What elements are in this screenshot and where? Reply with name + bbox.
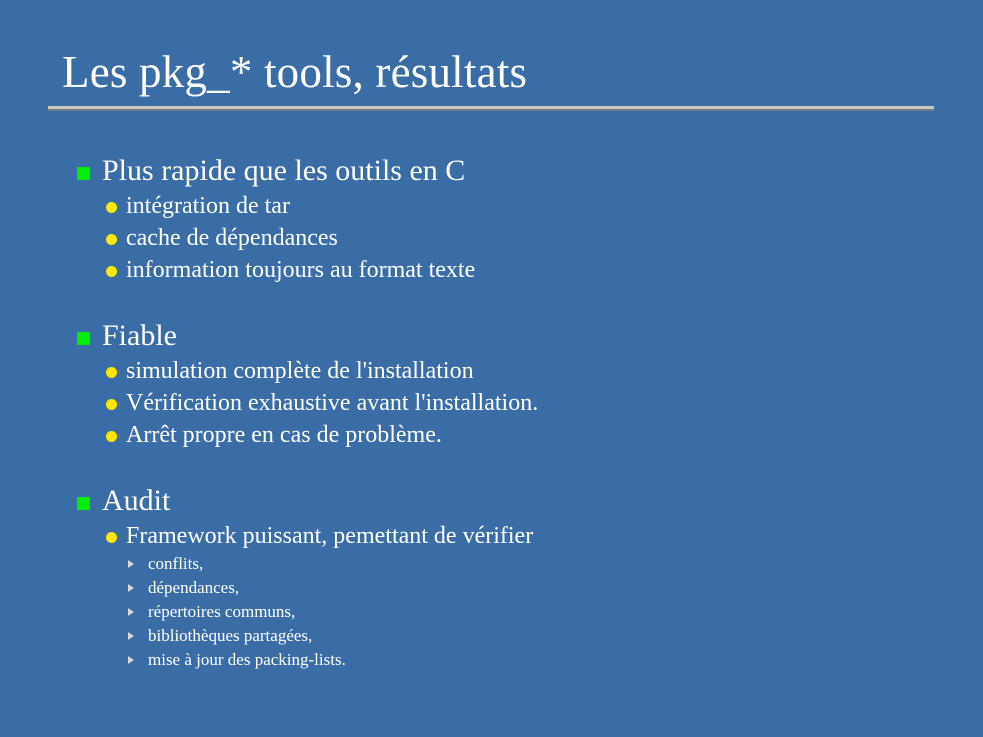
dot-bullet-icon bbox=[106, 367, 117, 378]
bullet-level2-label: intégration de tar bbox=[126, 193, 290, 219]
triangle-bullet-icon bbox=[128, 656, 134, 664]
bullet-group: Fiable simulation complète de l'installa… bbox=[70, 317, 950, 451]
bullet-level1-label: Plus rapide que les outils en C bbox=[102, 154, 465, 187]
bullet-level2-label: Framework puissant, pemettant de vérifie… bbox=[126, 523, 533, 549]
bullet-level2-list: intégration de tar cache de dépendances … bbox=[70, 190, 950, 286]
slide-title-block: Les pkg_* tools, résultats bbox=[48, 44, 934, 111]
bullet-level1: Audit bbox=[70, 482, 950, 520]
bullet-level2-label: simulation complète de l'installation bbox=[126, 358, 474, 384]
square-bullet-icon bbox=[77, 497, 90, 510]
bullet-level1: Plus rapide que les outils en C bbox=[70, 152, 950, 190]
bullet-level1-label: Fiable bbox=[102, 319, 177, 352]
list-item: mise à jour des packing-lists. bbox=[70, 648, 950, 672]
list-item: bibliothèques partagées, bbox=[70, 624, 950, 648]
triangle-bullet-icon bbox=[128, 632, 134, 640]
bullet-level2-list: simulation complète de l'installation Vé… bbox=[70, 355, 950, 451]
bullet-level2-label: information toujours au format texte bbox=[126, 257, 475, 283]
list-item: Framework puissant, pemettant de vérifie… bbox=[70, 520, 950, 552]
bullet-group: Plus rapide que les outils en C intégrat… bbox=[70, 152, 950, 286]
triangle-bullet-icon bbox=[128, 584, 134, 592]
bullet-level3-label: répertoires communs, bbox=[148, 602, 295, 621]
bullet-level1-label: Audit bbox=[102, 484, 170, 517]
presentation-slide: Les pkg_* tools, résultats Plus rapide q… bbox=[0, 0, 983, 737]
triangle-bullet-icon bbox=[128, 560, 134, 568]
square-bullet-icon bbox=[77, 332, 90, 345]
list-item: information toujours au format texte bbox=[70, 254, 950, 286]
list-item: intégration de tar bbox=[70, 190, 950, 222]
list-item: répertoires communs, bbox=[70, 600, 950, 624]
bullet-level3-label: conflits, bbox=[148, 554, 203, 573]
list-item: cache de dépendances bbox=[70, 222, 950, 254]
dot-bullet-icon bbox=[106, 234, 117, 245]
title-divider bbox=[48, 106, 934, 111]
bullet-group: Audit Framework puissant, pemettant de v… bbox=[70, 482, 950, 672]
slide-body: Plus rapide que les outils en C intégrat… bbox=[70, 152, 950, 672]
dot-bullet-icon bbox=[106, 431, 117, 442]
list-item: Vérification exhaustive avant l'installa… bbox=[70, 387, 950, 419]
dot-bullet-icon bbox=[106, 532, 117, 543]
dot-bullet-icon bbox=[106, 266, 117, 277]
dot-bullet-icon bbox=[106, 202, 117, 213]
square-bullet-icon bbox=[77, 167, 90, 180]
bullet-level3-label: dépendances, bbox=[148, 578, 239, 597]
bullet-level2-label: Arrêt propre en cas de problème. bbox=[126, 422, 442, 448]
bullet-level2-list: Framework puissant, pemettant de vérifie… bbox=[70, 520, 950, 552]
bullet-level2-label: Vérification exhaustive avant l'installa… bbox=[126, 390, 538, 416]
list-item: Arrêt propre en cas de problème. bbox=[70, 419, 950, 451]
bullet-level3-label: bibliothèques partagées, bbox=[148, 626, 312, 645]
bullet-level1: Fiable bbox=[70, 317, 950, 355]
list-item: dépendances, bbox=[70, 576, 950, 600]
dot-bullet-icon bbox=[106, 399, 117, 410]
triangle-bullet-icon bbox=[128, 608, 134, 616]
list-item: simulation complète de l'installation bbox=[70, 355, 950, 387]
bullet-level3-label: mise à jour des packing-lists. bbox=[148, 650, 346, 669]
page-title: Les pkg_* tools, résultats bbox=[48, 44, 934, 100]
bullet-level3-list: conflits, dépendances, répertoires commu… bbox=[70, 552, 950, 672]
bullet-level2-label: cache de dépendances bbox=[126, 225, 338, 251]
list-item: conflits, bbox=[70, 552, 950, 576]
